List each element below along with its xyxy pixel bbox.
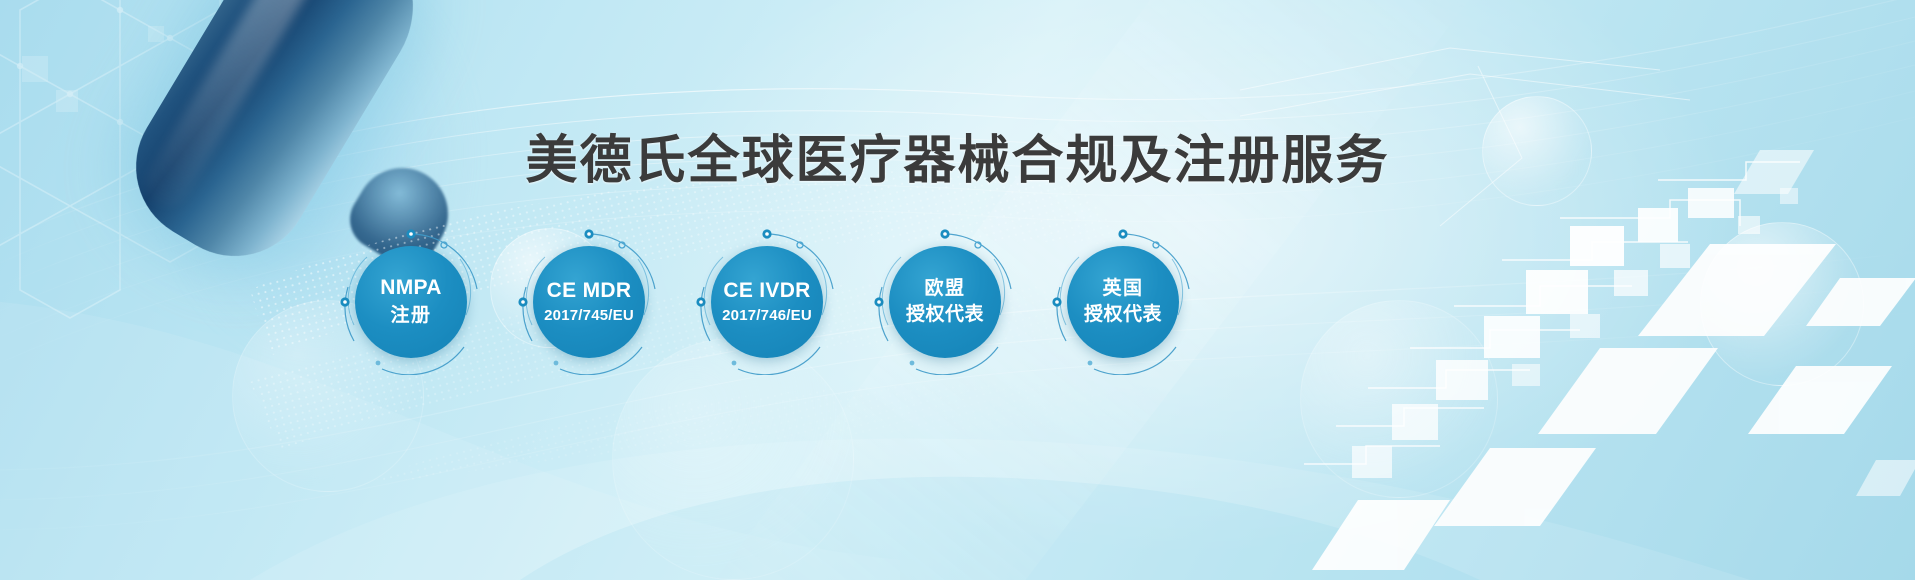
- page-title: 美德氏全球医疗器械合规及注册服务: [0, 118, 1915, 193]
- badge-line1: CE MDR: [547, 279, 632, 304]
- badge-uk-rep[interactable]: 英国 授权代表: [1067, 246, 1179, 358]
- badge-ce-ivdr[interactable]: CE IVDR 2017/746/EU: [711, 246, 823, 358]
- badge-ce-mdr[interactable]: CE MDR 2017/745/EU: [533, 246, 645, 358]
- badge-nmpa[interactable]: NMPA 注册: [355, 246, 467, 358]
- badge-circle[interactable]: NMPA 注册: [355, 246, 467, 358]
- badge-circle[interactable]: CE MDR 2017/745/EU: [533, 246, 645, 358]
- badge-line2: 注册: [390, 305, 431, 327]
- badge-circle[interactable]: 欧盟 授权代表: [889, 246, 1001, 358]
- badge-line1: CE IVDR: [723, 279, 810, 304]
- badge-line1: 欧盟: [924, 278, 965, 300]
- badge-line2: 2017/746/EU: [722, 307, 812, 325]
- banner: 美德氏全球医疗器械合规及注册服务 NMPA 注: [0, 0, 1915, 580]
- badge-line2: 授权代表: [906, 304, 984, 326]
- badge-line1: NMPA: [380, 276, 441, 301]
- badge-eu-rep[interactable]: 欧盟 授权代表: [889, 246, 1001, 358]
- badge-circle[interactable]: 英国 授权代表: [1067, 246, 1179, 358]
- badge-line2: 2017/745/EU: [544, 307, 634, 325]
- badge-line2: 授权代表: [1084, 304, 1162, 326]
- badge-line1: 英国: [1102, 278, 1143, 300]
- circuit-geometry-decor: [1240, 30, 1915, 580]
- badge-row: NMPA 注册 CE MDR: [355, 236, 1235, 368]
- badge-circle[interactable]: CE IVDR 2017/746/EU: [711, 246, 823, 358]
